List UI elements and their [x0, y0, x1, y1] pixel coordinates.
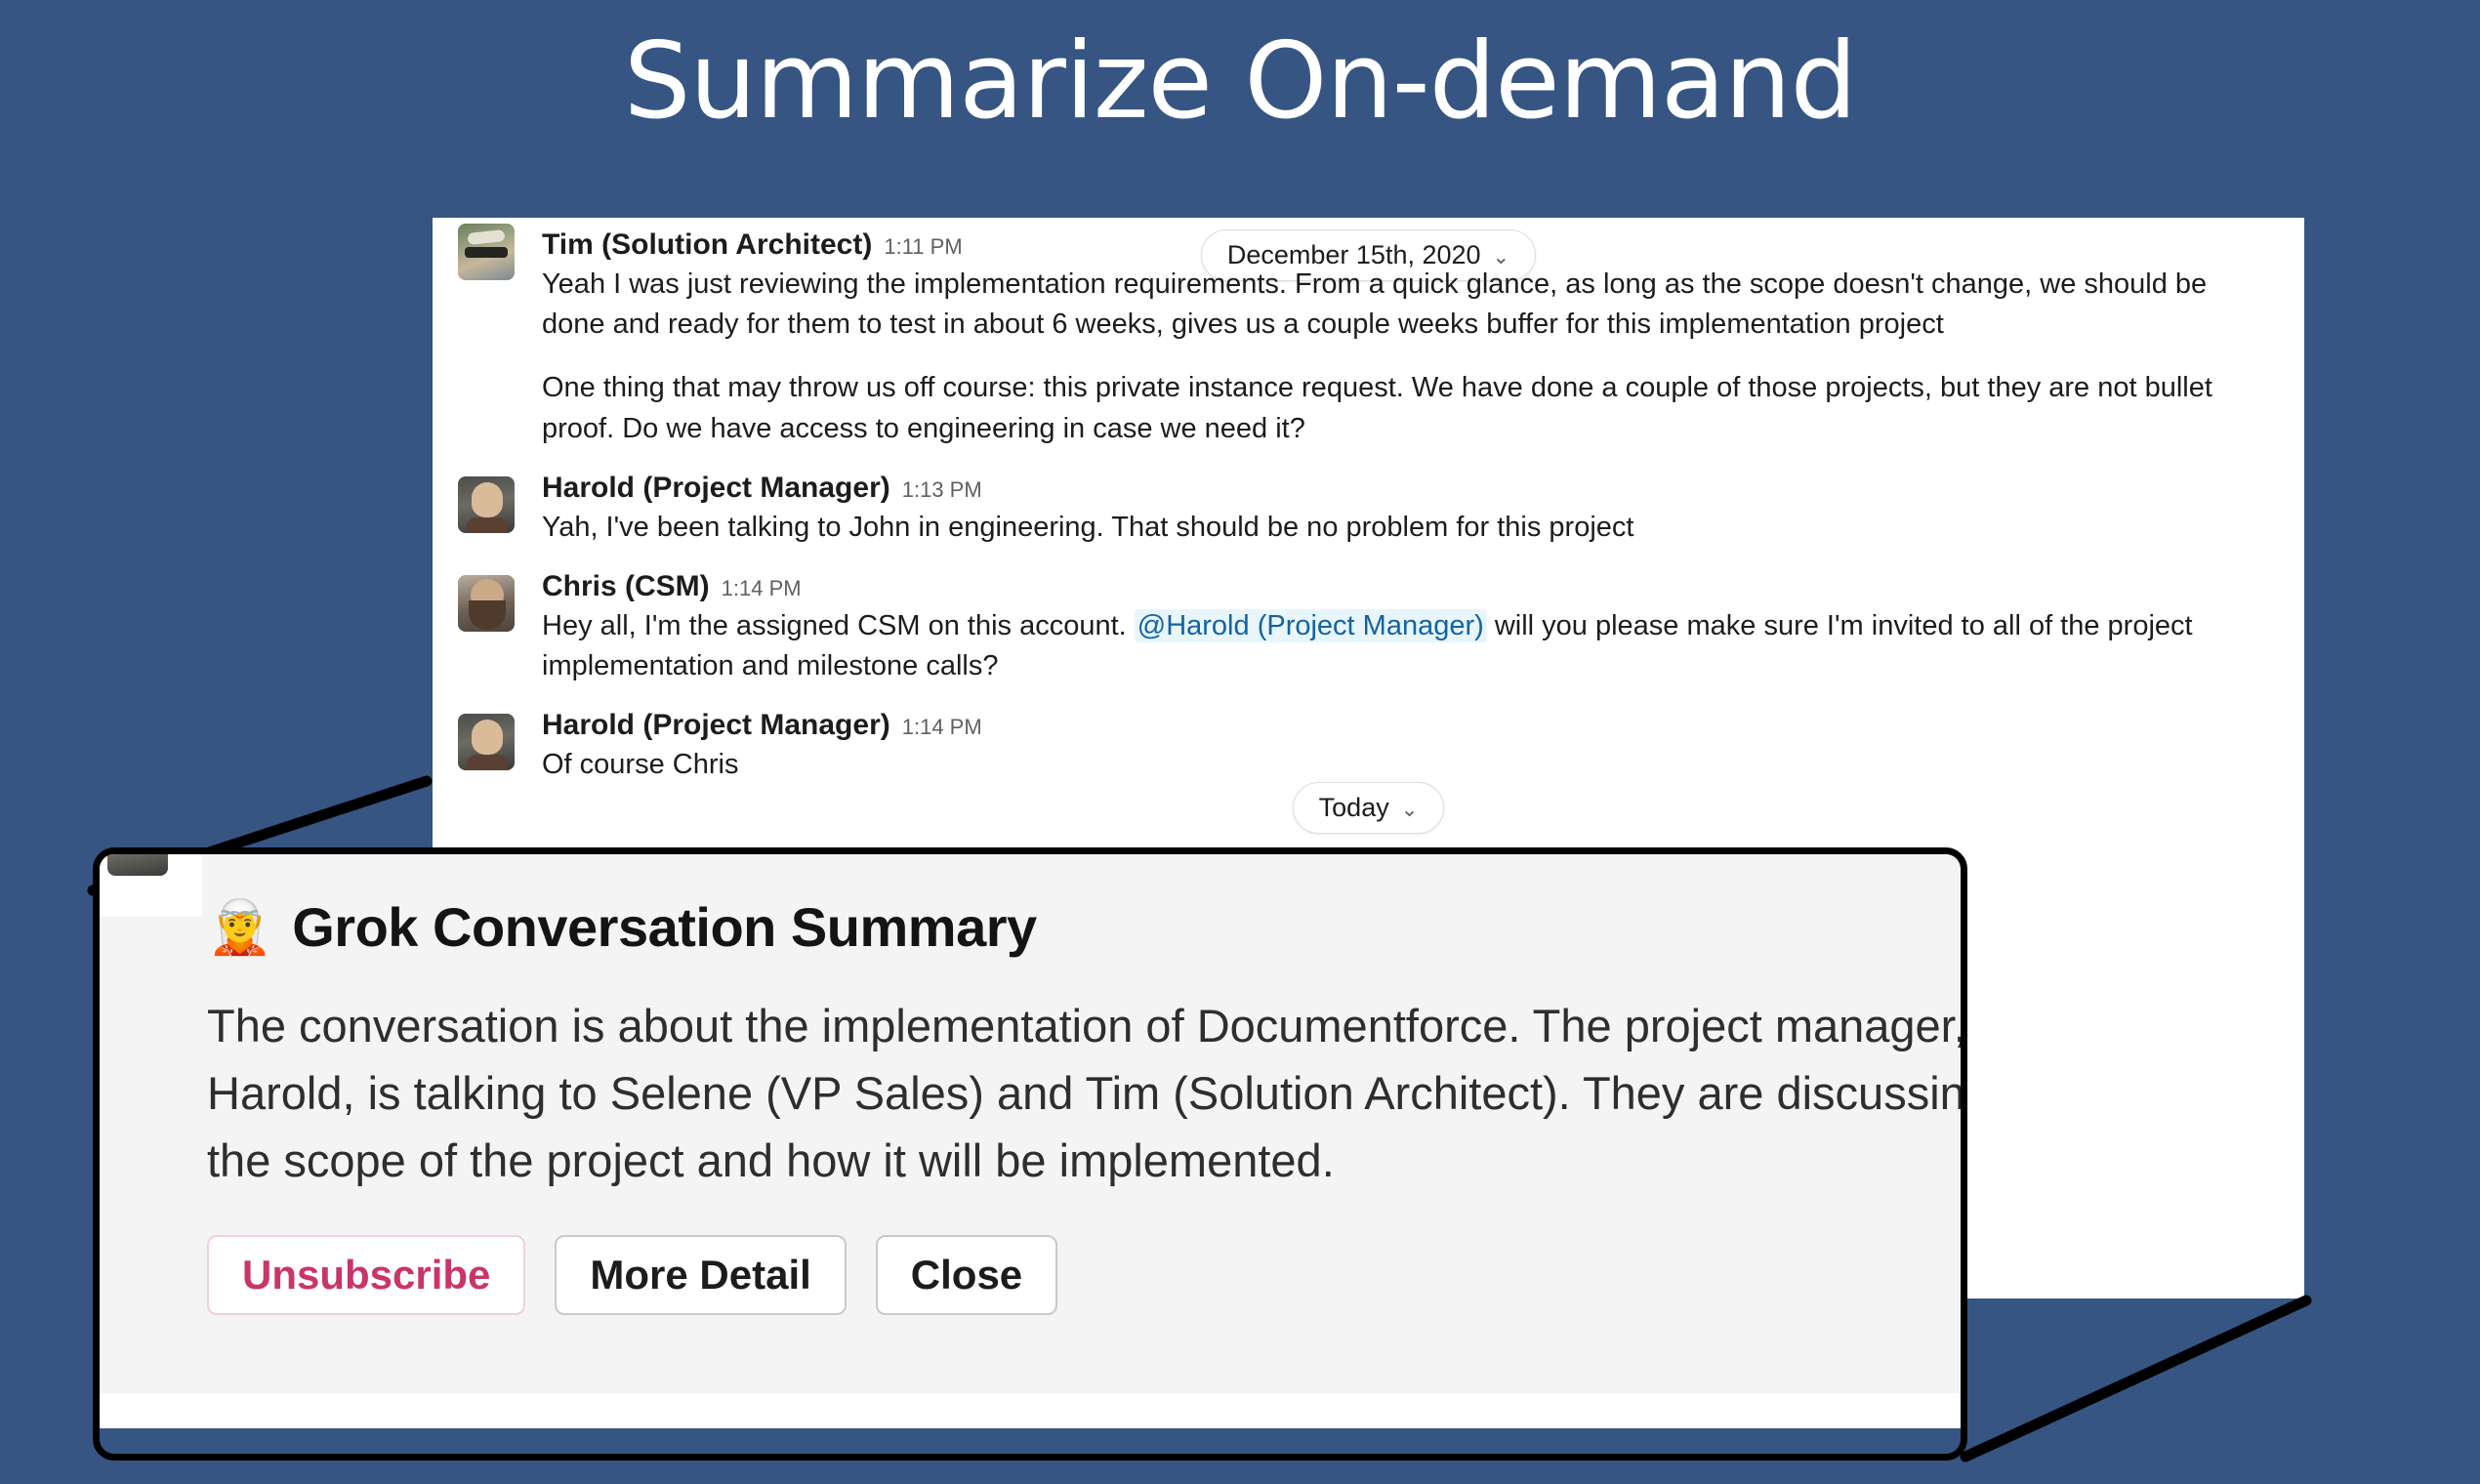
unsubscribe-button[interactable]: Unsubscribe: [207, 1235, 525, 1315]
message-text: One thing that may throw us off course: …: [542, 368, 2277, 448]
chevron-down-icon: ⌄: [1401, 799, 1419, 821]
user-mention-link[interactable]: @Harold (Project Manager): [1135, 609, 1487, 642]
modal-bottom-white-strip: [100, 1393, 1961, 1428]
message-text: Yeah I was just reviewing the implementa…: [542, 265, 2277, 345]
avatar-harold-image: [458, 476, 515, 533]
message-text: Yah, I've been talking to John in engine…: [542, 508, 2277, 548]
message-author[interactable]: Harold (Project Manager): [542, 472, 890, 504]
message-timestamp: 1:13 PM: [902, 477, 982, 502]
avatar[interactable]: [458, 714, 515, 770]
avatar-harold-image: [458, 714, 515, 770]
avatar-chris-image: [458, 575, 515, 632]
page-title: Summarize On-demand: [0, 21, 2480, 143]
message-item[interactable]: Harold (Project Manager)1:14 PM Of cours…: [433, 708, 2304, 785]
message-header: Harold (Project Manager)1:13 PM: [542, 471, 2277, 506]
grok-modal-actions: Unsubscribe More Detail Close: [100, 1194, 1961, 1315]
partial-avatar-behind-modal: [100, 854, 202, 917]
avatar[interactable]: [458, 575, 515, 632]
grok-summary-text: The conversation is about the implementa…: [100, 959, 1961, 1194]
message-timestamp: 1:11 PM: [884, 234, 962, 259]
avatar[interactable]: [458, 224, 515, 280]
date-pill-label: Today: [1319, 793, 1389, 822]
message-item[interactable]: Harold (Project Manager)1:13 PM Yah, I'v…: [433, 471, 2304, 548]
grok-modal-header: 🧝 Grok Conversation Summary: [100, 854, 1961, 959]
grok-summary-modal[interactable]: 🧝 Grok Conversation Summary The conversa…: [93, 847, 1967, 1461]
message-item[interactable]: Chris (CSM)1:14 PM Hey all, I'm the assi…: [433, 569, 2304, 686]
message-timestamp: 1:14 PM: [722, 576, 802, 600]
message-item[interactable]: Tim (Solution Architect)1:11 PM Yeah I w…: [433, 218, 2304, 449]
avatar-tim-image: [458, 224, 515, 280]
message-text: Of course Chris: [542, 745, 2277, 785]
close-button[interactable]: Close: [876, 1235, 1057, 1315]
message-timestamp: 1:14 PM: [902, 715, 982, 739]
message-author[interactable]: Tim (Solution Architect): [542, 228, 872, 261]
elf-icon: 🧝: [207, 901, 272, 954]
message-header: Chris (CSM)1:14 PM: [542, 569, 2277, 604]
avatar[interactable]: [458, 476, 515, 533]
message-header: Tim (Solution Architect)1:11 PM: [542, 227, 2277, 263]
grok-modal-content: 🧝 Grok Conversation Summary The conversa…: [100, 854, 1961, 1393]
message-text-before-mention: Hey all, I'm the assigned CSM on this ac…: [542, 610, 1135, 641]
grok-modal-title: Grok Conversation Summary: [292, 895, 1036, 959]
message-author[interactable]: Harold (Project Manager): [542, 709, 890, 741]
message-author[interactable]: Chris (CSM): [542, 570, 710, 602]
message-header: Harold (Project Manager)1:14 PM: [542, 708, 2277, 743]
message-text: Hey all, I'm the assigned CSM on this ac…: [542, 606, 2277, 686]
more-detail-button[interactable]: More Detail: [555, 1235, 846, 1315]
